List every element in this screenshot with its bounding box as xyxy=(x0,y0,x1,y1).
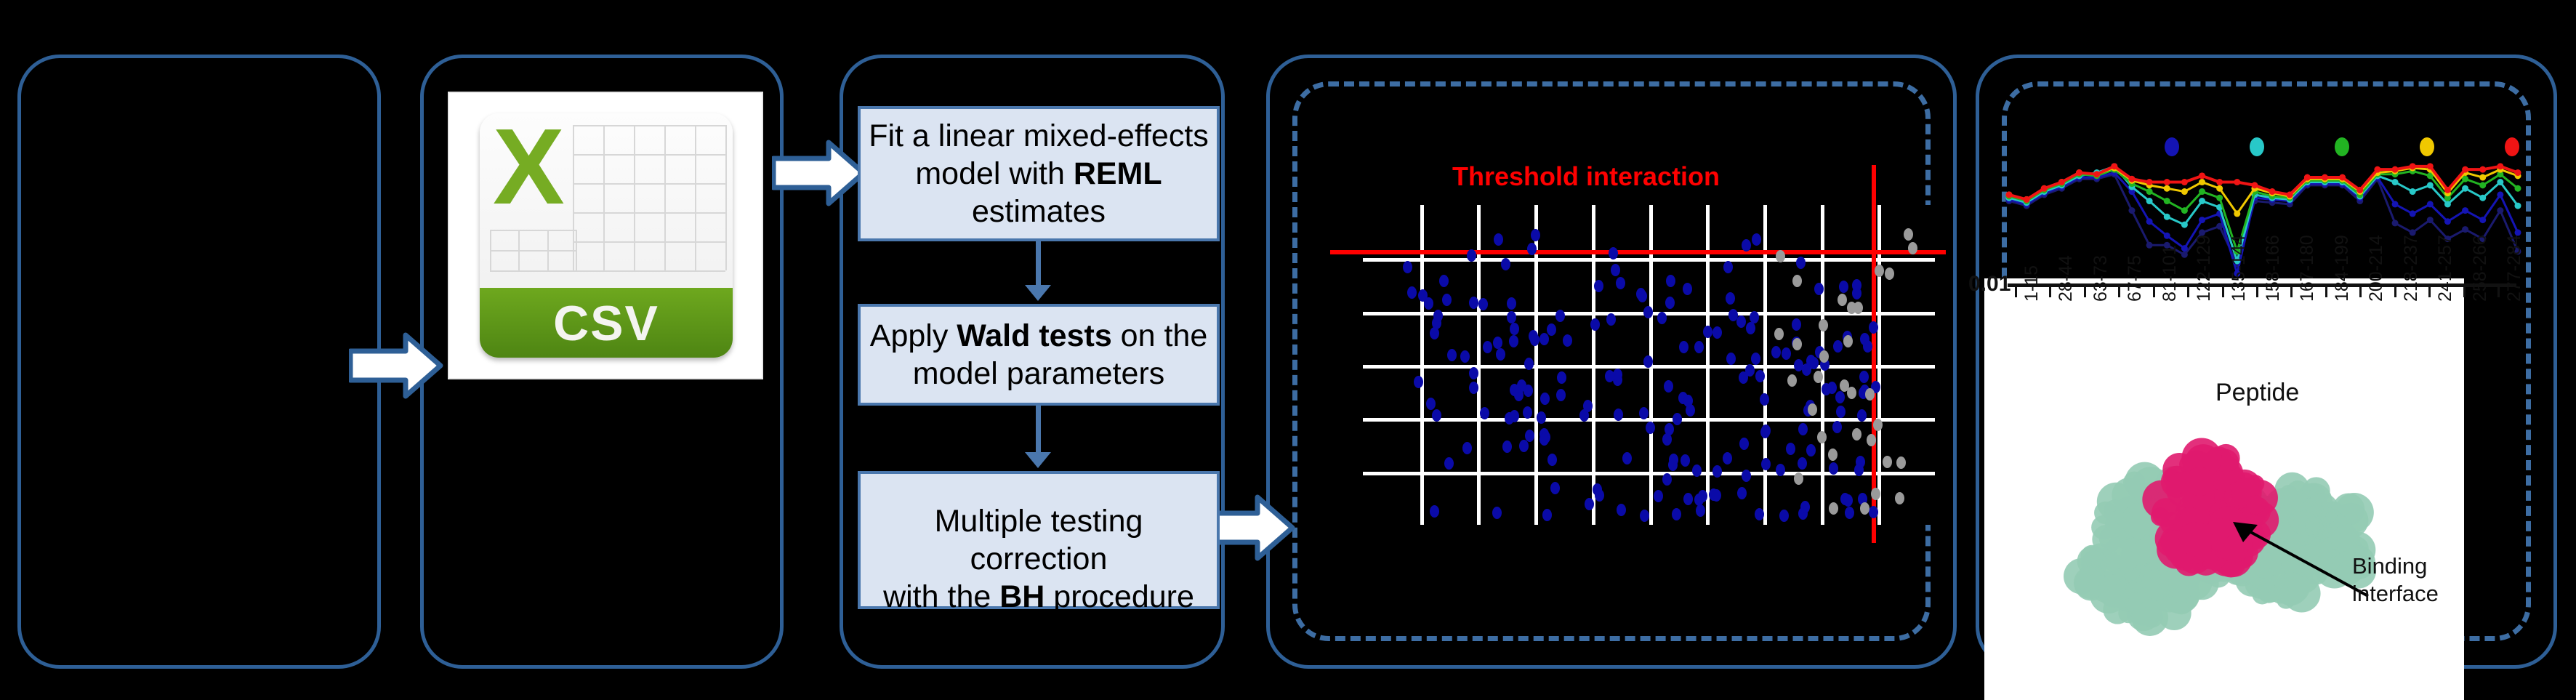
scatter-point xyxy=(1672,508,1681,520)
scatter-point xyxy=(1698,490,1707,502)
scatter-point xyxy=(1550,482,1560,494)
scatter-point xyxy=(1430,327,1439,339)
scatter-point xyxy=(1683,493,1693,505)
peptide-tick-label: 158-166 xyxy=(2263,235,2284,302)
peptide-tick-label: 81-101 xyxy=(2160,245,2181,302)
peptide-tick-label: 135-144 xyxy=(2229,235,2250,302)
scatter-point xyxy=(1895,492,1904,504)
line-point xyxy=(2251,182,2258,188)
line-point xyxy=(2216,185,2223,192)
scatter-point xyxy=(1761,425,1771,437)
scatter-point xyxy=(1787,374,1797,387)
peptide-axis-tick xyxy=(2497,287,2500,297)
scatter-point xyxy=(1609,247,1618,260)
line-point xyxy=(2146,188,2153,195)
scatter-point xyxy=(1752,233,1761,246)
peptide-tick-label: 184-199 xyxy=(2332,235,2353,302)
scatter-point xyxy=(1668,459,1678,471)
arrow-csv-to-model xyxy=(772,138,866,208)
line-point xyxy=(2041,185,2048,192)
scatter-point xyxy=(1432,409,1441,422)
peptide-axis-tick xyxy=(2359,287,2362,297)
line-point xyxy=(2515,203,2521,209)
scatter-point xyxy=(1407,286,1417,299)
legend-marker-series-yellow xyxy=(2420,137,2434,156)
scatter-point xyxy=(1507,311,1516,323)
legend-marker-series-blue xyxy=(2165,137,2179,156)
line-point xyxy=(2356,187,2363,193)
scatter-point xyxy=(1908,242,1917,254)
scatter-point xyxy=(1755,370,1765,382)
fit-model-step: Fit a linear mixed-effects model with RE… xyxy=(858,106,1220,241)
scatter-point xyxy=(1847,387,1856,399)
wald-test-step: Apply Wald tests on the model parameters xyxy=(858,304,1220,406)
line-point xyxy=(2392,166,2399,173)
csv-icon-tile: X CSV xyxy=(480,113,733,358)
scatter-point xyxy=(1643,355,1653,368)
line-point xyxy=(2093,171,2100,177)
legend-marker-series-red xyxy=(2505,137,2519,156)
line-point xyxy=(2497,191,2503,198)
scatter-point xyxy=(1494,233,1503,246)
line-point xyxy=(2479,166,2486,173)
scatter-point xyxy=(1829,462,1838,475)
scatter-point xyxy=(1501,258,1510,270)
scatter-point xyxy=(1510,410,1519,422)
scatter-point xyxy=(1792,318,1801,331)
peptide-axis-tick xyxy=(2463,287,2466,297)
scatter-point xyxy=(1819,350,1829,363)
scatter-point xyxy=(1442,294,1452,306)
line-point xyxy=(2304,174,2311,181)
line-point xyxy=(2164,185,2170,192)
scatter-point xyxy=(1447,349,1457,361)
scatter-point xyxy=(1539,433,1549,446)
line-point xyxy=(2146,198,2153,204)
peptide-tick-label: 258-266 xyxy=(2470,235,2491,302)
line-point xyxy=(2462,166,2468,173)
scatter-threshold-horizontal-line xyxy=(1330,250,1946,254)
scatter-point xyxy=(1492,507,1502,519)
scatter-point xyxy=(1806,444,1816,456)
scatter-point xyxy=(1739,438,1749,450)
scatter-point xyxy=(1524,358,1534,370)
scatter-point xyxy=(1662,473,1672,486)
line-point xyxy=(2199,198,2205,204)
line-point xyxy=(2444,187,2451,193)
bh-correction-step-text: Multiple testing correction with the BH … xyxy=(868,464,1209,616)
scatter-point xyxy=(1478,298,1488,310)
line-point xyxy=(2462,185,2468,192)
line-point xyxy=(2444,218,2451,225)
scatter-point xyxy=(1469,367,1478,379)
peptide-axis-tick xyxy=(2153,287,2155,297)
scatter-point xyxy=(1857,409,1867,422)
scatter-point xyxy=(1654,490,1663,502)
line-point xyxy=(2427,182,2434,188)
line-point xyxy=(2479,217,2486,223)
line-point xyxy=(2374,166,2380,173)
peptide-axis-tick xyxy=(2325,287,2327,297)
line-point xyxy=(2199,188,2205,195)
peptide-tick-label: 277-284 xyxy=(2504,235,2525,302)
scatter-point xyxy=(1798,423,1808,435)
scatter-point xyxy=(1782,347,1791,360)
line-point xyxy=(2058,179,2065,185)
scatter-point xyxy=(1873,419,1883,431)
line-point xyxy=(2216,195,2223,201)
peptide-tick-label: 241-257 xyxy=(2435,235,2456,302)
binding-interface-annotation: Binding interface xyxy=(2352,552,2439,608)
line-point xyxy=(2392,220,2399,226)
line-point xyxy=(2146,179,2153,185)
scatter-point xyxy=(1657,312,1667,324)
scatter-point xyxy=(1796,257,1806,269)
line-point xyxy=(2006,191,2013,198)
scatter-point xyxy=(1853,302,1863,314)
scatter-point xyxy=(1867,434,1876,446)
line-point xyxy=(2181,245,2188,252)
scatter-point xyxy=(1444,457,1454,470)
scatter-point xyxy=(1817,431,1827,443)
scatter-point xyxy=(1845,507,1854,519)
scatter-point xyxy=(1611,264,1620,276)
scatter-point xyxy=(1686,404,1695,417)
scatter-point xyxy=(1896,456,1906,469)
line-point xyxy=(2128,207,2135,214)
scatter-point xyxy=(1662,433,1672,446)
scatter-point xyxy=(1835,391,1845,403)
scatter-point xyxy=(1726,292,1735,305)
peptide-tick-label: 67-75 xyxy=(2125,255,2146,302)
line-point xyxy=(2164,179,2170,185)
scatter-point xyxy=(1681,454,1690,467)
scatter-point xyxy=(1755,508,1764,520)
scatter-point xyxy=(1694,341,1704,353)
scatter-point xyxy=(1502,440,1512,453)
scatter-point xyxy=(1852,428,1861,440)
line-point xyxy=(2339,174,2346,181)
scatter-point xyxy=(1871,488,1880,500)
scatter-point xyxy=(1863,340,1872,353)
scatter-point xyxy=(1904,228,1913,241)
scatter-point xyxy=(1430,505,1439,518)
scatter-point xyxy=(1776,250,1785,262)
peptide-axis-tick xyxy=(2428,287,2431,297)
scatter-point xyxy=(1761,458,1771,470)
peptide-tick-label: 167-180 xyxy=(2297,235,2318,302)
line-point xyxy=(2199,172,2205,179)
scatter-point xyxy=(1814,283,1824,295)
line-point xyxy=(2479,174,2486,181)
scatter-point xyxy=(1469,297,1478,309)
scatter-point xyxy=(1860,502,1869,515)
line-point xyxy=(2234,179,2240,185)
scatter-point xyxy=(1424,297,1433,310)
scatter-point xyxy=(1462,442,1472,454)
scatter-point xyxy=(1838,294,1847,306)
line-point xyxy=(2164,233,2170,239)
scatter-point xyxy=(1585,498,1594,510)
arrow-raw-to-csv xyxy=(349,331,443,401)
scatter-point xyxy=(1493,337,1502,349)
peptide-tick-label: 63-73 xyxy=(2090,255,2112,302)
line-point xyxy=(2146,242,2153,249)
scatter-point xyxy=(1852,279,1861,291)
scatter-point xyxy=(1666,275,1675,287)
scatter-threshold-interaction-label: Threshold interaction xyxy=(1452,161,1720,192)
csv-icon-grid-main xyxy=(573,125,725,270)
scatter-point xyxy=(1556,389,1566,401)
peptide-axis-tick xyxy=(2084,287,2086,297)
scatter-point xyxy=(1590,318,1600,331)
scatter-point xyxy=(1555,310,1565,322)
line-point xyxy=(2322,174,2328,181)
peptide-chart-y-tick-label: 0.01 xyxy=(1968,272,2011,297)
scatter-point xyxy=(1792,338,1802,350)
line-point xyxy=(2427,163,2434,169)
scatter-point xyxy=(1869,506,1878,518)
scatter-point xyxy=(1885,267,1894,280)
line-point xyxy=(2181,188,2188,195)
peptide-axis-tick xyxy=(2290,287,2293,297)
line-point xyxy=(2234,210,2240,217)
scatter-point xyxy=(1774,328,1784,340)
line-point xyxy=(2444,201,2451,207)
line-point xyxy=(2392,201,2399,207)
scatter-point xyxy=(1646,422,1655,434)
scatter-point xyxy=(1537,411,1546,424)
wald-test-step-text: Apply Wald tests on the model parameters xyxy=(868,317,1209,393)
peptide-axis-tick xyxy=(2049,287,2051,297)
scatter-point xyxy=(1547,323,1556,336)
scatter-point xyxy=(1483,341,1492,353)
scatter-point xyxy=(1833,340,1843,353)
line-point xyxy=(2146,218,2153,225)
scatter-point xyxy=(1859,371,1869,383)
scatter-point xyxy=(1723,452,1732,464)
peptide-axis-tick xyxy=(2256,287,2258,297)
scatter-point xyxy=(1439,275,1449,287)
line-point xyxy=(2128,176,2135,182)
line-point xyxy=(2199,179,2205,185)
scatter-point xyxy=(1798,457,1807,470)
peptide-tick-label: 122-129 xyxy=(2194,235,2215,302)
scatter-point xyxy=(1794,472,1803,485)
line-point xyxy=(2181,222,2188,228)
line-point xyxy=(2392,179,2399,185)
peptide-axis-tick xyxy=(2222,287,2224,297)
scatter-point xyxy=(1539,333,1549,345)
scatter-point xyxy=(1433,310,1443,322)
scatter-point xyxy=(1510,323,1519,335)
scatter-point xyxy=(1854,464,1864,476)
scatter-point xyxy=(1507,297,1516,310)
scatter-point xyxy=(1696,504,1705,517)
scatter-point xyxy=(1664,380,1673,393)
line-point xyxy=(2497,207,2503,214)
scatter-point xyxy=(1843,494,1853,507)
scatter-point xyxy=(1779,510,1789,522)
scatter-point xyxy=(1750,311,1759,323)
peptide-axis-tick xyxy=(2118,287,2120,297)
protein-structure-image xyxy=(2056,414,2390,654)
scatter-point xyxy=(1836,406,1846,418)
scatter-point xyxy=(1746,322,1755,334)
scatter-point xyxy=(1665,297,1675,309)
scatter-point xyxy=(1519,440,1529,452)
scatter-point xyxy=(1523,406,1532,419)
scatter-point xyxy=(1751,353,1760,365)
peptide-axis-tick xyxy=(2187,287,2189,297)
line-point xyxy=(2479,195,2486,201)
scatter-point xyxy=(1828,448,1838,461)
scatter-threshold-vertical-line xyxy=(1872,165,1876,543)
scatter-point xyxy=(1712,326,1722,339)
scatter-point xyxy=(1726,353,1736,365)
scatter-point xyxy=(1800,501,1810,513)
line-point xyxy=(2181,207,2188,214)
scatter-point xyxy=(1843,335,1853,347)
legend-marker-series-cyan xyxy=(2250,137,2264,156)
scatter-point xyxy=(1583,400,1593,412)
line-point xyxy=(2076,169,2082,176)
bh-correction-step: Multiple testing correction with the BH … xyxy=(858,471,1220,609)
scatter-point xyxy=(1794,359,1803,371)
line-point xyxy=(2199,217,2205,223)
scatter-point xyxy=(1792,275,1802,287)
scatter-point xyxy=(1594,280,1603,292)
scatter-point xyxy=(1827,382,1837,394)
scatter-point xyxy=(1531,229,1540,241)
line-point xyxy=(2164,198,2170,204)
connector-step2-step3 xyxy=(1036,406,1041,454)
line-point xyxy=(2181,252,2188,258)
scatter-point xyxy=(1808,403,1817,416)
scatter-point xyxy=(1760,393,1769,406)
line-point xyxy=(2410,188,2416,195)
line-point xyxy=(2410,210,2416,217)
csv-format-label: CSV xyxy=(480,295,733,352)
scatter-point xyxy=(1712,489,1721,502)
scatter-point xyxy=(1530,334,1539,346)
connector-arrowhead-1 xyxy=(1025,285,1051,301)
peptide-axis-tick xyxy=(2015,287,2017,297)
csv-file-icon: X CSV xyxy=(449,93,762,378)
scatter-point xyxy=(1563,334,1572,347)
scatter-point xyxy=(1703,326,1712,338)
scatter-point xyxy=(1832,421,1842,433)
scatter-point xyxy=(1673,413,1682,425)
raw-data-stage-panel xyxy=(17,55,381,669)
scatter-point xyxy=(1723,261,1733,273)
line-point xyxy=(2515,185,2521,192)
csv-icon-grid-secondary xyxy=(490,230,576,270)
line-point xyxy=(2427,201,2434,207)
peptide-tick-label: 200-214 xyxy=(2366,235,2387,302)
fit-model-step-text: Fit a linear mixed-effects model with RE… xyxy=(868,117,1209,230)
scatter-point xyxy=(1875,265,1884,277)
line-point xyxy=(2164,214,2170,220)
line-point xyxy=(2287,191,2293,198)
scatter-point xyxy=(1616,277,1625,289)
scatter-point xyxy=(1638,290,1647,302)
scatter-point xyxy=(1728,309,1738,321)
scatter-point xyxy=(1771,346,1781,358)
scatter-point xyxy=(1606,313,1616,326)
scatter-point xyxy=(1403,261,1412,273)
scatter-point xyxy=(1524,385,1533,397)
legend-marker-series-green xyxy=(2335,137,2349,156)
line-point xyxy=(2111,163,2117,169)
line-point xyxy=(2427,217,2434,223)
scatter-point xyxy=(1557,371,1566,384)
scatter-point xyxy=(1683,283,1692,295)
line-point xyxy=(2024,196,2030,203)
scatter-point xyxy=(1809,357,1819,369)
scatter-point xyxy=(1692,464,1702,477)
scatter-point xyxy=(1622,452,1632,464)
line-point xyxy=(2269,188,2276,195)
scatter-point xyxy=(1496,348,1505,361)
peptide-axis-title: Peptide xyxy=(2215,379,2299,407)
scatter-point xyxy=(1839,281,1848,293)
scatter-point xyxy=(1542,509,1552,521)
scatter-plot xyxy=(1363,205,1935,525)
scatter-point xyxy=(1540,393,1550,405)
scatter-point xyxy=(1480,407,1489,419)
scatter-point xyxy=(1712,465,1722,478)
line-point xyxy=(2216,179,2223,185)
line-point xyxy=(2497,179,2503,185)
line-point xyxy=(2497,163,2503,169)
scatter-point xyxy=(1786,443,1795,455)
scatter-point xyxy=(1742,470,1751,482)
scatter-point xyxy=(1617,504,1626,516)
line-point xyxy=(2181,179,2188,185)
scatter-point xyxy=(1665,423,1674,435)
scatter-point xyxy=(1883,456,1892,468)
peptide-tick-label: 28-44 xyxy=(2056,255,2077,302)
scatter-point xyxy=(1736,315,1746,328)
line-point xyxy=(2479,182,2486,188)
peptide-tick-label: 1-15 xyxy=(2021,265,2042,302)
connector-step1-step2 xyxy=(1036,241,1041,286)
scatter-point xyxy=(1739,371,1748,384)
peptide-axis-tick xyxy=(2394,287,2396,297)
scatter-point xyxy=(1639,407,1649,419)
scatter-point xyxy=(1460,350,1470,363)
line-point xyxy=(2515,169,2521,176)
scatter-point xyxy=(1509,335,1518,347)
excel-x-glyph: X xyxy=(493,119,579,217)
line-point xyxy=(2410,163,2416,169)
scatter-point xyxy=(1737,487,1747,499)
scatter-point xyxy=(1829,502,1838,515)
line-point xyxy=(2462,207,2468,214)
line-point xyxy=(2462,226,2468,233)
scatter-point xyxy=(1547,454,1557,466)
scatter-point xyxy=(1640,510,1649,522)
scatter-point xyxy=(1819,319,1828,331)
peptide-tick-label: 218-237 xyxy=(2401,235,2422,302)
scatter-point xyxy=(1426,398,1436,410)
scatter-point xyxy=(1679,341,1689,353)
scatter-point xyxy=(1527,243,1537,255)
